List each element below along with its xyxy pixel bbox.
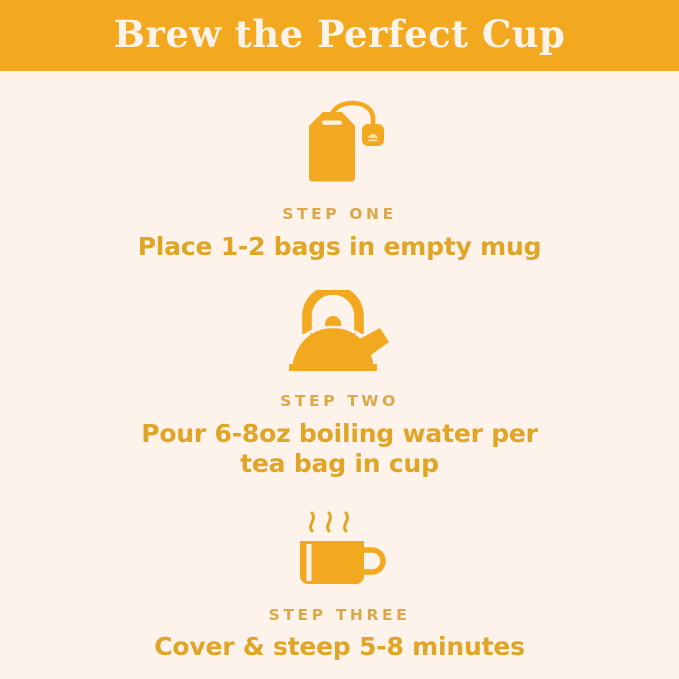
step-item-three: STEP THREE Cover & steep 5-8 minutes (0, 506, 679, 663)
step-description-line: Place 1-2 bags in empty mug (138, 232, 542, 263)
step-description-line: Pour 6-8oz boiling water per (141, 419, 538, 450)
step-label-three: STEP THREE (269, 608, 411, 624)
step-description-line: tea bag in cup (141, 449, 538, 480)
step-item-two: STEP TWO Pour 6-8oz boiling water per te… (0, 290, 679, 480)
tea-bag-icon (285, 93, 395, 189)
step-item-one: STEP ONE Place 1-2 bags in empty mug (0, 93, 679, 262)
step-description-one: Place 1-2 bags in empty mug (138, 232, 542, 263)
step-label-one: STEP ONE (282, 207, 397, 223)
step-description-three: Cover & steep 5-8 minutes (154, 632, 525, 663)
brew-instructions-poster: Brew the Perfect Cup ST (0, 0, 679, 679)
page-title: Brew the Perfect Cup (114, 16, 566, 56)
header-band: Brew the Perfect Cup (0, 0, 679, 71)
step-description-line: Cover & steep 5-8 minutes (154, 632, 525, 663)
steam-lines (310, 513, 347, 531)
steps-list: STEP ONE Place 1-2 bags in empty mug (0, 71, 679, 679)
kettle-icon (284, 290, 396, 376)
mug-with-steam-icon (288, 506, 392, 590)
step-label-two: STEP TWO (280, 394, 399, 410)
step-description-two: Pour 6-8oz boiling water per tea bag in … (141, 419, 538, 480)
